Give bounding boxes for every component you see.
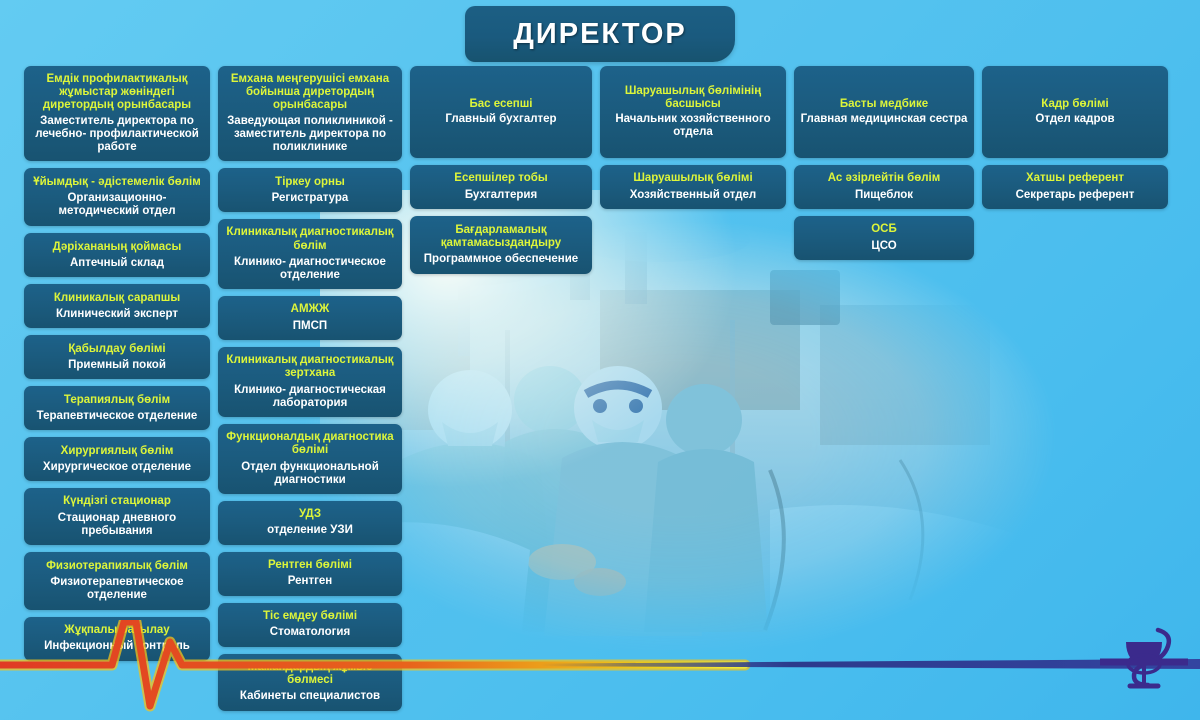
org-node[interactable]: Кадр бөліміОтдел кадров <box>982 66 1168 158</box>
org-node-label-kz: Кадр бөлімі <box>1041 98 1108 111</box>
org-node-label-kz: Бас есепші <box>469 98 532 111</box>
org-node-label-ru: ЦСО <box>871 240 896 253</box>
org-column-hr: Кадр бөліміОтдел кадровХатшы референтСек… <box>982 66 1168 209</box>
org-node-label-kz: Хатшы референт <box>1026 172 1124 185</box>
org-node-label-kz: ОСБ <box>871 223 897 236</box>
org-node-label-ru: отделение УЗИ <box>267 524 353 537</box>
org-node-label-ru: Отдел кадров <box>1035 113 1114 126</box>
org-node-label-ru: Приемный покой <box>68 359 166 372</box>
org-node-label-kz: Функционалдық диагностика бөлімі <box>224 431 396 457</box>
org-node-label-kz: Ұйымдық - әдістемелік бөлім <box>33 176 201 189</box>
org-node-label-ru: Заведующая поликлиникой - заместитель ди… <box>224 115 396 155</box>
org-node-label-kz: Емхана меңгерушісі емхана бойынша дирето… <box>224 73 396 113</box>
org-node-label-ru: Стоматология <box>270 626 350 639</box>
org-node-label-ru: Пищеблок <box>855 189 913 202</box>
page-title: ДИРЕКТОР <box>465 6 735 62</box>
org-node-label-ru: Заместитель директора по лечебно- профил… <box>30 115 204 155</box>
org-node-label-ru: Бухгалтерия <box>465 189 537 202</box>
org-node-label-ru: Главный бухгалтер <box>445 113 556 126</box>
org-node-label-kz: Бағдарламалық қамтамасыздандыру <box>416 224 586 250</box>
org-node-label-kz: Тіс емдеу бөлімі <box>263 610 357 623</box>
org-node-label-kz: Ас әзірлейтін бөлім <box>828 172 941 185</box>
org-node-label-ru: ПМСП <box>293 320 327 333</box>
org-node[interactable]: Хатшы референтСекретарь референт <box>982 165 1168 209</box>
org-node[interactable]: Тіс емдеу бөліміСтоматология <box>218 603 402 647</box>
org-node[interactable]: УДЗотделение УЗИ <box>218 501 402 545</box>
org-node-label-kz: Физиотерапиялық бөлім <box>46 560 188 573</box>
org-node[interactable]: Рентген бөліміРентген <box>218 552 402 596</box>
org-node-label-kz: Тіркеу орны <box>275 176 345 189</box>
org-column-nursing: Басты медбикеГлавная медицинская сестраА… <box>794 66 974 260</box>
org-node-label-kz: Мамандардың жұмыс бөлмесі <box>224 661 396 687</box>
org-node-label-kz: Хирургиялық бөлім <box>61 445 174 458</box>
org-node[interactable]: Қабылдау бөліміПриемный покой <box>24 335 210 379</box>
org-node-label-ru: Клинико- диагностическая лаборатория <box>224 384 396 410</box>
org-node[interactable]: Мамандардың жұмыс бөлмесіКабинеты специа… <box>218 654 402 711</box>
org-node-label-kz: Қабылдау бөлімі <box>68 343 165 356</box>
org-node[interactable]: Бағдарламалық қамтамасыздандыруПрограммн… <box>410 216 592 274</box>
org-node-label-ru: Начальник хозяйственного отдела <box>606 113 780 139</box>
org-node[interactable]: Есепшілер тобыБухгалтерия <box>410 165 592 209</box>
org-node[interactable]: АМЖЖПМСП <box>218 296 402 340</box>
org-node-label-ru: Инфекционный контроль <box>44 640 190 653</box>
operating-room-photo <box>300 210 1060 650</box>
org-node-label-kz: Емдік профилактикалық жұмыстар жөніндегі… <box>30 73 204 113</box>
org-node[interactable]: Хирургиялық бөлімХирургическое отделение <box>24 437 210 481</box>
org-node[interactable]: Дәріхананың қоймасыАптечный склад <box>24 233 210 277</box>
org-node[interactable]: Клиникалық сарапшыКлинический эксперт <box>24 284 210 328</box>
org-node-label-ru: Регистратура <box>272 192 349 205</box>
org-column-economic: Шаруашылық бөлімінің басшысыНачальник хо… <box>600 66 786 209</box>
org-node-label-kz: Терапиялық бөлім <box>64 394 170 407</box>
org-node-label-ru: Стационар дневного пребывания <box>30 512 204 538</box>
org-node-label-kz: Шаруашылық бөлімінің басшысы <box>606 85 780 111</box>
org-node[interactable]: Терапиялық бөлімТерапевтическое отделени… <box>24 386 210 430</box>
org-node[interactable]: Күндізгі стационарСтационар дневного пре… <box>24 488 210 545</box>
org-node-label-ru: Главная медицинская сестра <box>801 113 968 126</box>
org-node[interactable]: ОСБЦСО <box>794 216 974 260</box>
org-node[interactable]: Клиникалық диагностикалық зертханаКлиник… <box>218 347 402 417</box>
org-node[interactable]: Функционалдық диагностика бөліміОтдел фу… <box>218 424 402 494</box>
org-node-label-ru: Секретарь референт <box>1016 189 1135 202</box>
org-node-label-kz: Клиникалық сарапшы <box>54 292 180 305</box>
org-node-label-ru: Терапевтическое отделение <box>37 410 198 423</box>
org-node-label-kz: Дәріхананың қоймасы <box>53 241 182 254</box>
org-node[interactable]: Бас есепшіГлавный бухгалтер <box>410 66 592 158</box>
org-column-accounting: Бас есепшіГлавный бухгалтерЕсепшілер тоб… <box>410 66 592 274</box>
org-column-medical: Емдік профилактикалық жұмыстар жөніндегі… <box>24 66 210 661</box>
org-node-label-ru: Клинический эксперт <box>56 308 178 321</box>
org-node[interactable]: Шаруашылық бөліміХозяйственный отдел <box>600 165 786 209</box>
org-node-label-kz: Рентген бөлімі <box>268 559 352 572</box>
org-node-label-kz: Басты медбике <box>840 98 928 111</box>
org-node-label-ru: Организационно-методический отдел <box>30 192 204 218</box>
org-node-label-kz: Есепшілер тобы <box>454 172 547 185</box>
org-node[interactable]: Емхана меңгерушісі емхана бойынша дирето… <box>218 66 402 161</box>
org-node-label-ru: Отдел функциональной диагностики <box>224 461 396 487</box>
org-node-label-ru: Клинико- диагностическое отделение <box>224 256 396 282</box>
org-node[interactable]: Ас әзірлейтін бөлімПищеблок <box>794 165 974 209</box>
org-node-label-ru: Программное обеспечение <box>424 253 578 266</box>
org-node-label-kz: Клиникалық диагностикалық бөлім <box>224 226 396 252</box>
org-node-label-ru: Рентген <box>288 575 333 588</box>
org-node-label-kz: УДЗ <box>299 508 321 521</box>
org-node-label-ru: Хирургическое отделение <box>43 461 191 474</box>
org-node[interactable]: Шаруашылық бөлімінің басшысыНачальник хо… <box>600 66 786 158</box>
org-node[interactable]: Жұқпалы бақылауИнфекционный контроль <box>24 617 210 661</box>
org-node-label-kz: Шаруашылық бөлімі <box>633 172 752 185</box>
org-node[interactable]: Басты медбикеГлавная медицинская сестра <box>794 66 974 158</box>
org-node[interactable]: Тіркеу орныРегистратура <box>218 168 402 212</box>
org-node[interactable]: Физиотерапиялық бөлімФизиотерапевтическо… <box>24 552 210 610</box>
org-node-label-kz: Күндізгі стационар <box>63 495 171 508</box>
org-node-label-ru: Кабинеты специалистов <box>240 690 380 703</box>
org-node-label-kz: Жұқпалы бақылау <box>64 624 169 637</box>
org-node[interactable]: Клиникалық диагностикалық бөлімКлинико- … <box>218 219 402 289</box>
org-column-polyclinic: Емхана меңгерушісі емхана бойынша дирето… <box>218 66 402 711</box>
bowl-of-hygieia-icon <box>1100 616 1188 704</box>
org-node-label-ru: Хозяйственный отдел <box>630 189 756 202</box>
org-node-label-ru: Аптечный склад <box>70 257 164 270</box>
org-node-label-kz: АМЖЖ <box>291 303 330 316</box>
org-node[interactable]: Емдік профилактикалық жұмыстар жөніндегі… <box>24 66 210 161</box>
page-title-text: ДИРЕКТОР <box>513 18 687 51</box>
org-node-label-kz: Клиникалық диагностикалық зертхана <box>224 354 396 380</box>
org-node-label-ru: Физиотерапевтическое отделение <box>30 576 204 602</box>
org-node[interactable]: Ұйымдық - әдістемелік бөлімОрганизационн… <box>24 168 210 226</box>
